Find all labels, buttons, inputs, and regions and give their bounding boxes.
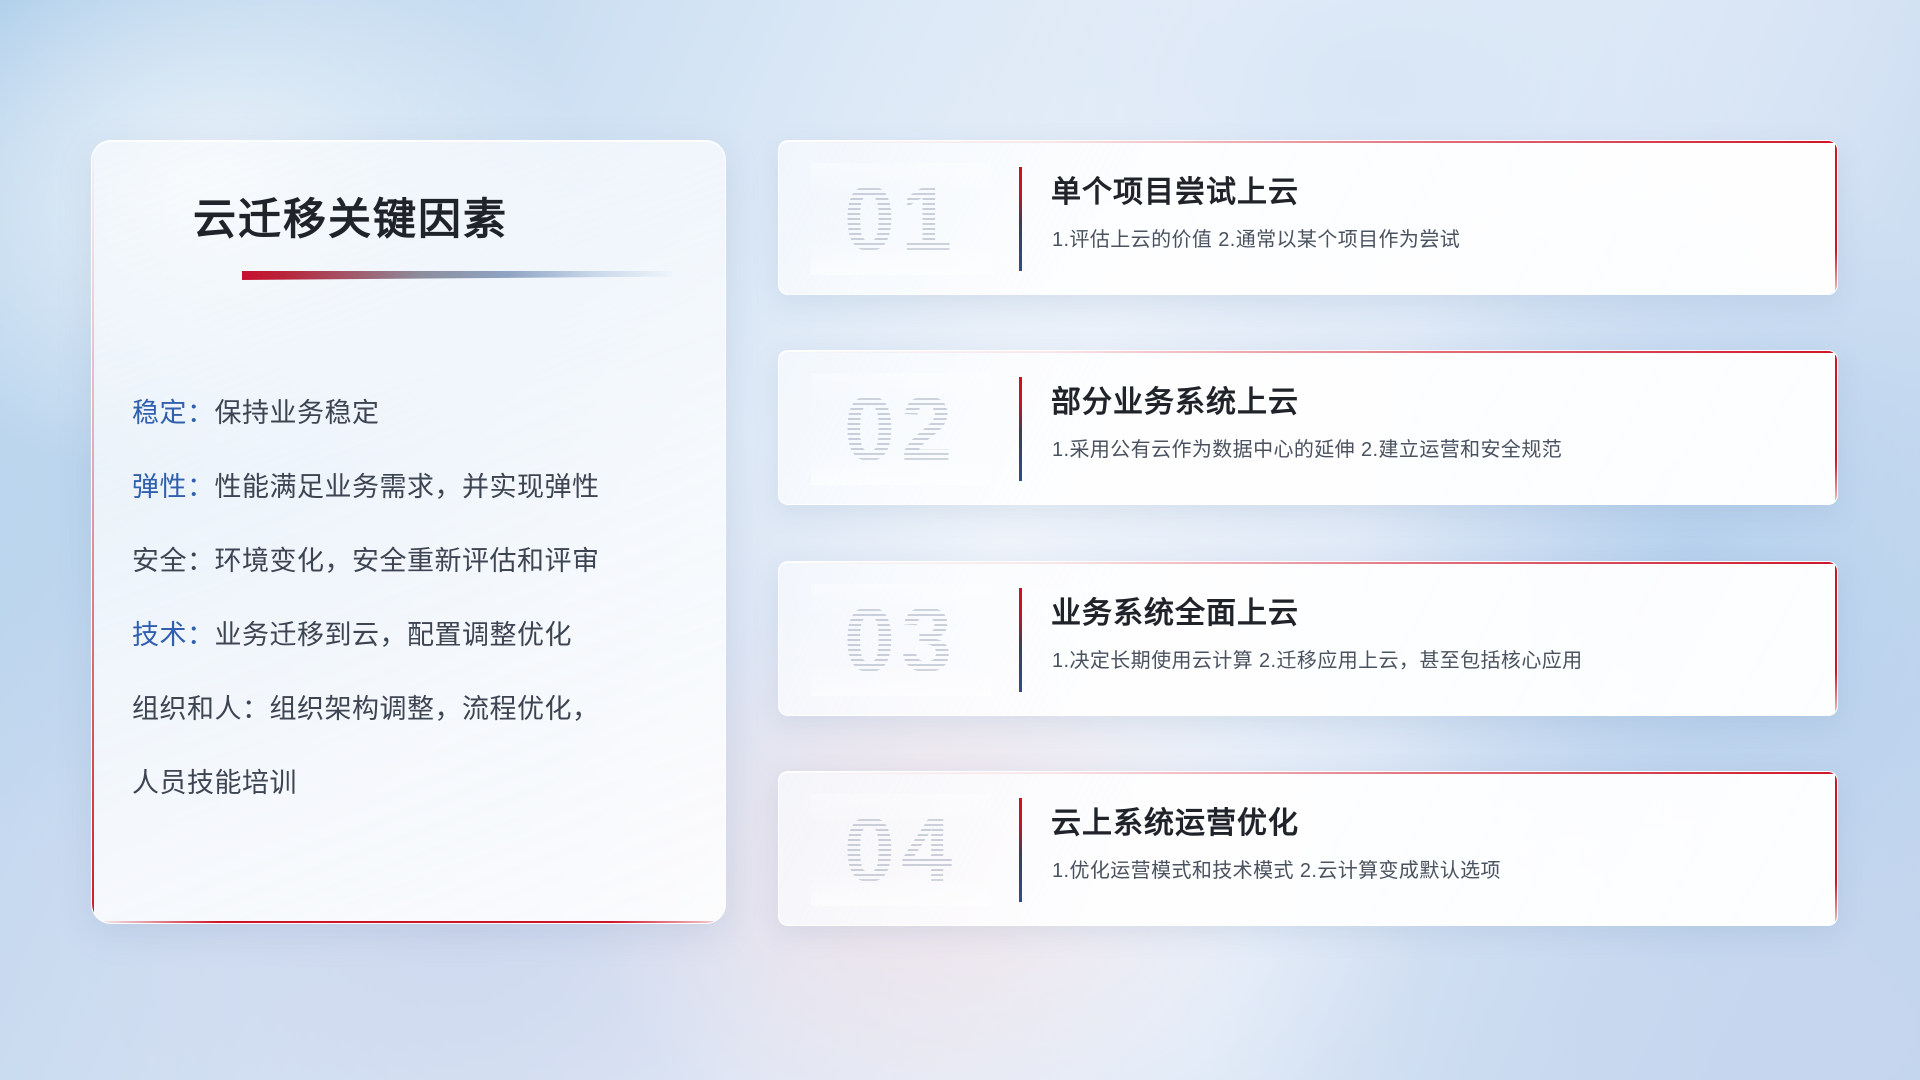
step-number-02: 02: [811, 373, 991, 485]
step-number-03: 03: [811, 584, 991, 696]
step-card-04[interactable]: 04 云上系统运营优化 1.优化运营模式和技术模式 2.云计算变成默认选项: [778, 771, 1838, 926]
accent-divider: [1019, 167, 1022, 271]
step-card-03[interactable]: 03 业务系统全面上云 1.决定长期使用云计算 2.迁移应用上云，甚至包括核心应…: [778, 561, 1838, 716]
list-item: 技术：业务迁移到云，配置调整优化: [132, 598, 692, 672]
list-item-continuation: 人员技能培训: [132, 746, 692, 820]
factor-key: 安全：: [132, 546, 215, 576]
step-title: 云上系统运营优化: [1051, 798, 1299, 842]
factor-list: 稳定：保持业务稳定 弹性：性能满足业务需求，并实现弹性 安全：环境变化，安全重新…: [132, 376, 692, 820]
step-number-04: 04: [811, 794, 991, 906]
key-factors-panel: 云迁移关键因素 稳定：保持业务稳定 弹性：性能满足业务需求，并实现弹性 安全：环…: [91, 140, 726, 924]
step-card-01[interactable]: 01 单个项目尝试上云 1.评估上云的价值 2.通常以某个项目作为尝试: [778, 140, 1838, 295]
list-item: 弹性：性能满足业务需求，并实现弹性: [132, 450, 692, 524]
list-item: 安全：环境变化，安全重新评估和评审: [132, 524, 692, 598]
factor-key: 组织和人：: [132, 694, 270, 724]
factor-text: 人员技能培训: [132, 768, 297, 798]
accent-divider: [1019, 377, 1022, 481]
step-description: 1.优化运营模式和技术模式 2.云计算变成默认选项: [1052, 854, 1501, 883]
accent-divider: [1019, 798, 1022, 902]
page-title: 云迁移关键因素: [193, 185, 508, 247]
factor-text: 性能满足业务需求，并实现弹性: [215, 472, 600, 502]
accent-divider: [1019, 588, 1022, 692]
step-description: 1.采用公有云作为数据中心的延伸 2.建立运营和安全规范: [1052, 433, 1562, 462]
step-title: 部分业务系统上云: [1051, 377, 1299, 421]
step-number-01: 01: [811, 163, 991, 275]
factor-text: 环境变化，安全重新评估和评审: [215, 546, 600, 576]
title-underline-bar: [242, 271, 672, 280]
list-item: 稳定：保持业务稳定: [132, 376, 692, 450]
step-card-02[interactable]: 02 部分业务系统上云 1.采用公有云作为数据中心的延伸 2.建立运营和安全规范: [778, 350, 1838, 505]
step-description: 1.评估上云的价值 2.通常以某个项目作为尝试: [1052, 223, 1460, 252]
step-description: 1.决定长期使用云计算 2.迁移应用上云，甚至包括核心应用: [1052, 644, 1583, 673]
slide-content: 云迁移关键因素 稳定：保持业务稳定 弹性：性能满足业务需求，并实现弹性 安全：环…: [0, 0, 1920, 1080]
factor-key: 稳定：: [132, 398, 215, 428]
factor-key: 技术：: [132, 620, 215, 650]
step-title: 单个项目尝试上云: [1051, 167, 1299, 211]
factor-key: 弹性：: [132, 472, 215, 502]
step-title: 业务系统全面上云: [1051, 588, 1299, 632]
factor-text: 业务迁移到云，配置调整优化: [215, 620, 573, 650]
factor-text: 保持业务稳定: [215, 398, 380, 428]
list-item: 组织和人：组织架构调整，流程优化，: [132, 672, 692, 746]
factor-text: 组织架构调整，流程优化，: [270, 694, 600, 724]
